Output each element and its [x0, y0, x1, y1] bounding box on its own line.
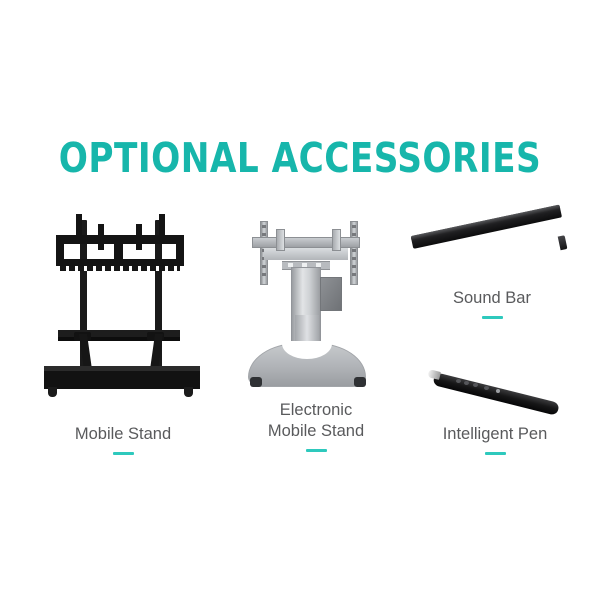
estand-rail-holes-right	[352, 225, 356, 281]
electronic-mobile-stand-underline	[306, 449, 327, 452]
intelligent-pen-icon	[428, 352, 568, 410]
estand-beam	[252, 237, 360, 248]
base-platform	[44, 371, 200, 389]
electronic-mobile-stand-label: Electronic Mobile Stand	[240, 400, 392, 442]
sound-bar-label: Sound Bar	[420, 288, 564, 309]
page-title: OPTIONAL ACCESSORIES	[21, 136, 579, 180]
pen-body	[432, 372, 559, 416]
caster-left	[48, 387, 57, 397]
pen-button-4	[484, 386, 489, 390]
mobile-stand-underline	[113, 452, 134, 455]
electronic-mobile-stand-caption: Electronic Mobile Stand	[240, 400, 392, 452]
sound-bar-icon	[412, 222, 564, 274]
accessories-poster: OPTIONAL ACCESSORIES	[0, 0, 600, 600]
estand-caster-left	[250, 377, 262, 387]
sound-bar-end-cap	[558, 235, 568, 250]
intelligent-pen-caption: Intelligent Pen	[405, 424, 585, 455]
caster-right	[184, 387, 193, 397]
mobile-stand-label: Mobile Stand	[28, 424, 218, 445]
pen-button-3	[473, 383, 478, 387]
estand-tab-right	[332, 229, 341, 251]
pen-tip	[427, 369, 441, 380]
sound-bar-caption: Sound Bar	[420, 288, 564, 319]
pen-button-2	[464, 381, 469, 385]
sound-bar-underline	[482, 316, 503, 319]
mobile-stand-caption: Mobile Stand	[28, 424, 218, 455]
sound-bar-body	[411, 205, 562, 249]
estand-tab-left	[276, 229, 285, 251]
estand-control-box	[320, 277, 342, 311]
mobile-stand-icon	[38, 206, 206, 398]
estand-caster-right	[354, 377, 366, 387]
bracket-teeth	[60, 266, 180, 271]
bracket-rail	[56, 259, 184, 266]
pen-led-indicator	[496, 389, 500, 393]
intelligent-pen-underline	[485, 452, 506, 455]
intelligent-pen-label: Intelligent Pen	[405, 424, 585, 445]
electronic-mobile-stand-icon	[240, 215, 380, 395]
pen-button-1	[456, 379, 461, 383]
